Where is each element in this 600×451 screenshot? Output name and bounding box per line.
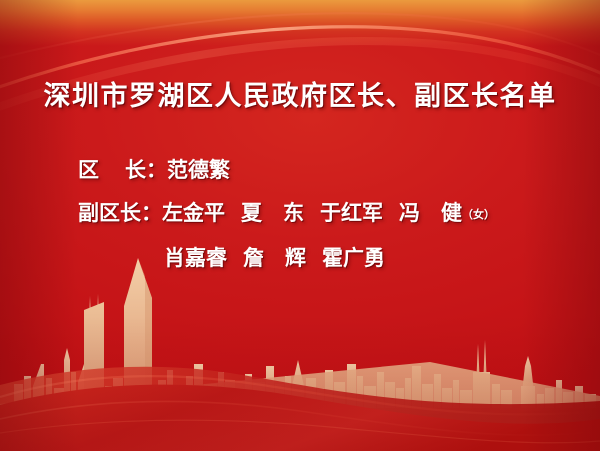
chief-colon: ： <box>146 157 167 182</box>
roster-list: 区长：范德繁 副区长：左金平夏 东于红军冯 健（女） 肖嘉睿詹 辉霍广勇 <box>78 148 580 279</box>
roster-row-deputy-line-1: 副区长：左金平夏 东于红军冯 健（女） <box>78 191 580 236</box>
page-title: 深圳市罗湖区人民政府区长、副区长名单 <box>0 74 600 113</box>
roster-row-chief: 区长：范德繁 <box>78 148 580 191</box>
deputy-name-1: 左金平 <box>162 200 225 225</box>
deputy-name-6: 詹 辉 <box>243 245 306 270</box>
roster-row-deputy-line-2: 肖嘉睿詹 辉霍广勇 <box>78 236 580 279</box>
deputy-name-5: 肖嘉睿 <box>164 245 227 270</box>
deputy-name-4-note: （女） <box>462 208 495 221</box>
chief-label-char-1: 区 <box>78 148 99 191</box>
deputy-label: 副区长 <box>78 191 141 234</box>
poster-content: 深圳市罗湖区人民政府区长、副区长名单 区长：范德繁 副区长：左金平夏 东于红军冯… <box>0 0 600 451</box>
deputy-name-4: 冯 健 <box>399 200 462 225</box>
chief-label-char-2: 长 <box>125 148 146 191</box>
chief-name: 范德繁 <box>167 157 230 182</box>
deputy-colon: ： <box>141 200 162 225</box>
deputy-name-2: 夏 东 <box>241 200 304 225</box>
deputy-name-3: 于红军 <box>320 200 383 225</box>
poster-canvas: 深圳市罗湖区人民政府区长、副区长名单 区长：范德繁 副区长：左金平夏 东于红军冯… <box>0 0 600 451</box>
deputy-name-7: 霍广勇 <box>322 245 385 270</box>
